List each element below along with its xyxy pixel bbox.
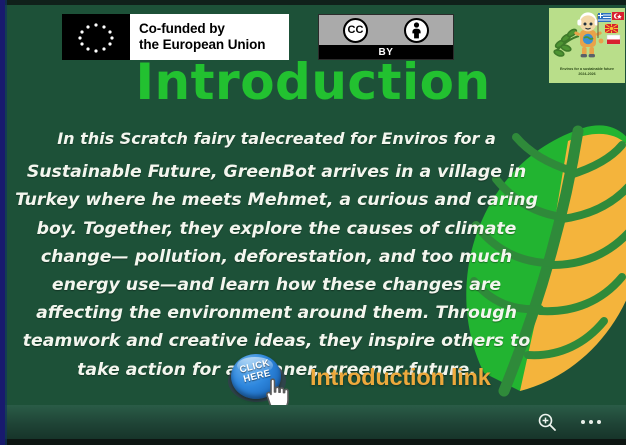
- cc-by-label: BY: [319, 45, 453, 59]
- slide-body-paragraph: Sustainable Future, GreenBot arrives in …: [15, 162, 538, 379]
- slide-body-text: In this Scratch fairy talecreated for En…: [14, 125, 539, 384]
- eu-badge-line2: the European Union: [139, 37, 265, 53]
- enviros-mascot-icon: [549, 8, 625, 76]
- cc-badge-top: CC: [319, 15, 453, 45]
- hand-cursor-icon: [260, 372, 304, 405]
- introduction-link-cta[interactable]: CLICK HERE Introduction link: [228, 350, 491, 404]
- click-here-button-icon[interactable]: CLICK HERE: [228, 350, 286, 404]
- eu-stars-icon: [62, 14, 130, 60]
- slide-canvas: Co-funded by the European Union CC BY: [0, 5, 626, 405]
- more-dot: [581, 420, 585, 424]
- eu-badge-text: Co-funded by the European Union: [130, 21, 265, 53]
- cc-attribution-person-icon: [404, 18, 429, 43]
- cc-by-license-badge: CC BY: [318, 14, 454, 60]
- more-dot: [589, 420, 593, 424]
- page-title: Introduction: [0, 53, 626, 111]
- eu-cofunded-badge: Co-funded by the European Union: [62, 14, 289, 60]
- eu-badge-line1: Co-funded by: [139, 21, 265, 37]
- cc-logo-icon: CC: [343, 18, 368, 43]
- zoom-in-icon[interactable]: [530, 407, 564, 437]
- left-edge-strip-inner: [5, 0, 7, 445]
- presentation-slide: Co-funded by the European Union CC BY: [0, 0, 626, 445]
- more-dot: [597, 420, 601, 424]
- enviros-project-logo: Enviros for a sustainable future 2024-20…: [549, 8, 625, 83]
- introduction-link-label[interactable]: Introduction link: [310, 364, 491, 391]
- more-options-icon[interactable]: [574, 407, 608, 437]
- project-logo-caption-line2: 2024-2026: [549, 72, 625, 77]
- bottom-edge-band: [0, 439, 626, 445]
- bottom-toolbar: [0, 405, 626, 439]
- slide-body-lead: In this Scratch fairy talecreated for En…: [14, 125, 539, 153]
- project-logo-caption: Enviros for a sustainable future 2024-20…: [549, 67, 625, 77]
- top-edge-band: [0, 0, 626, 5]
